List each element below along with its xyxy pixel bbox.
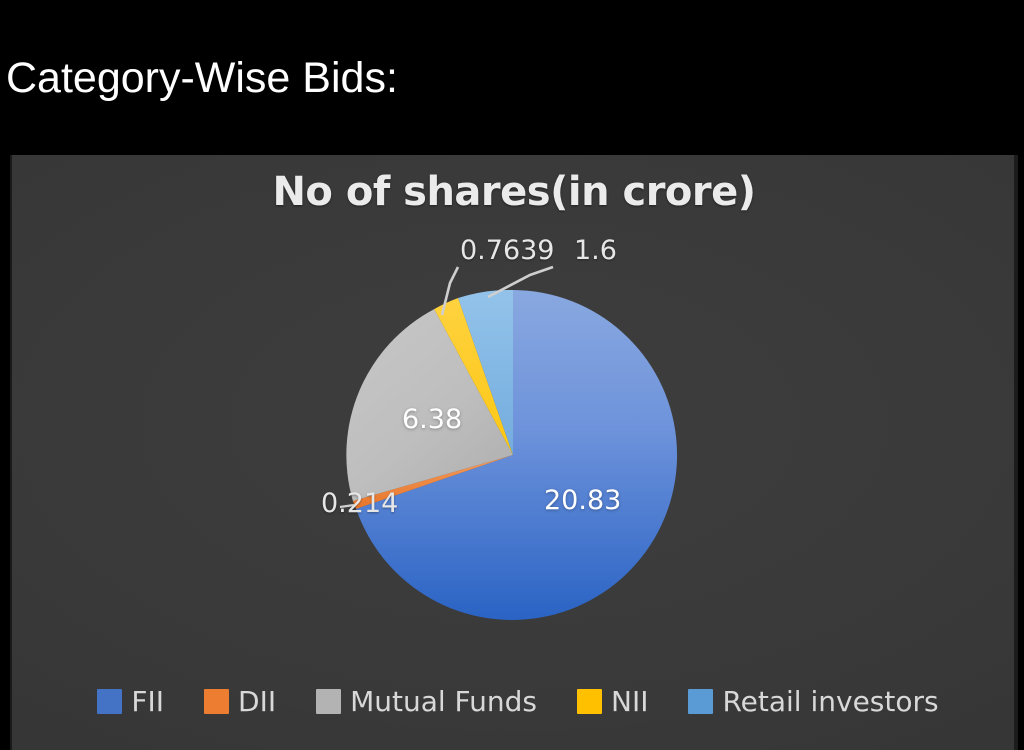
page-title: Category-Wise Bids: [6,57,398,100]
legend-label-mutual-funds: Mutual Funds [350,685,537,718]
legend-item-nii[interactable]: NII [577,685,648,718]
legend-swatch-dii [204,689,229,714]
data-label-mutual-funds: 6.38 [402,404,462,435]
legend-label-retail-investors: Retail investors [722,685,938,718]
legend-label-nii: NII [611,685,648,718]
legend-item-mutual-funds[interactable]: Mutual Funds [316,685,537,718]
legend-item-fii[interactable]: FII [97,685,164,718]
legend-label-dii: DII [238,685,276,718]
chart-legend: FII DII Mutual Funds NII Retail investor… [10,685,1018,718]
legend-swatch-retail-investors [688,689,713,714]
data-label-dii: 0.214 [321,488,398,519]
legend-item-retail-investors[interactable]: Retail investors [688,685,938,718]
data-label-nii: 0.7639 [460,235,554,266]
legend-label-fii: FII [131,685,164,718]
data-label-retail-investors: 1.6 [574,235,617,266]
legend-swatch-mutual-funds [316,689,341,714]
data-label-fii: 20.83 [544,485,621,516]
legend-swatch-nii [577,689,602,714]
pie-chart: 20.83 0.214 6.38 0.7639 1.6 [10,155,1018,750]
legend-swatch-fii [97,689,122,714]
chart-panel: No of shares(in crore) [10,155,1018,750]
legend-item-dii[interactable]: DII [204,685,276,718]
